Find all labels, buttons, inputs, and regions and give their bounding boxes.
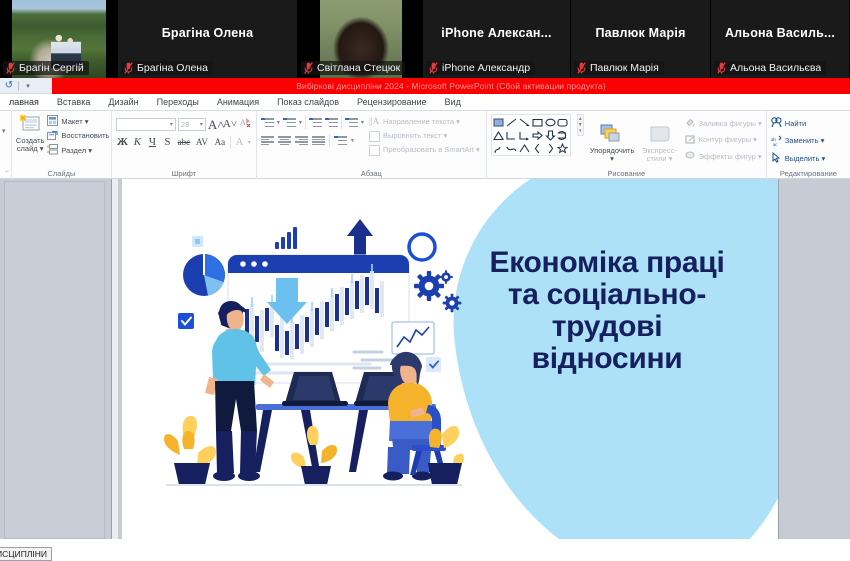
- participant-footer: Брагін Сергій: [3, 61, 89, 75]
- shape-effects-icon: [685, 150, 696, 163]
- line-shape-icon[interactable]: [506, 116, 518, 128]
- shadow-button[interactable]: S: [161, 137, 174, 148]
- convert-to-smartart-label: Преобразовать в SmartArt ▾: [383, 146, 480, 154]
- columns-icon[interactable]: [334, 135, 347, 146]
- smartart-icon: [369, 145, 380, 156]
- replace-icon: abac: [771, 135, 782, 148]
- numbered-list-icon[interactable]: [283, 117, 296, 128]
- right-brace-shape-icon[interactable]: [544, 142, 556, 154]
- decrease-font-size-button[interactable]: A˅: [223, 119, 236, 130]
- arc-shape-icon[interactable]: [518, 142, 530, 154]
- slide-thumbnail-list[interactable]: [4, 181, 105, 539]
- new-slide-button[interactable]: Создать слайд ▾: [16, 114, 45, 153]
- document-title: Вибіркові дисципліни 2024 - Microsoft Po…: [296, 81, 606, 91]
- star-shape-icon[interactable]: [557, 142, 569, 154]
- left-brace-shape-icon[interactable]: [531, 142, 543, 154]
- slides-small-buttons: Макет ▾ Восстановить Раздел ▾: [47, 114, 109, 157]
- participant-center-name: Павлюк Марія: [571, 26, 710, 40]
- shape-outline-icon: [685, 134, 696, 147]
- participant-footer: Павлюк Марія: [574, 61, 664, 75]
- ribbon-group-clipboard: ▾ ⌐: [0, 111, 12, 179]
- slide-title-line: трудові: [452, 311, 762, 343]
- line-spacing-dropdown-icon[interactable]: ▾: [361, 119, 364, 126]
- shape-format-buttons: Заливка фигуры ▾ Контур фигуры ▾ Эффекты…: [685, 114, 762, 163]
- reset-button[interactable]: Восстановить: [47, 130, 109, 143]
- align-left-icon[interactable]: [261, 135, 274, 146]
- qat-customize-button[interactable]: ▾: [22, 80, 34, 92]
- microphone-muted-icon: [6, 62, 15, 74]
- quick-styles-label: Экспресс-стили ▾: [640, 147, 678, 163]
- participant-center-name: iPhone Алексан...: [423, 26, 570, 40]
- reset-label: Восстановить: [61, 132, 109, 140]
- tab-view[interactable]: Вид: [436, 97, 470, 110]
- business-analytics-illustration: [164, 209, 464, 499]
- participant-footer: Альона Васильєва: [714, 61, 826, 75]
- curve-shape-icon[interactable]: [506, 142, 518, 154]
- font-size-input[interactable]: 28 ▾: [178, 118, 206, 131]
- slide-title-line: Економіка праці: [452, 247, 762, 279]
- justify-icon[interactable]: [312, 135, 325, 146]
- font-divider: [230, 136, 231, 149]
- microphone-muted-icon: [717, 62, 726, 74]
- participant-center-name: Альона Василь...: [711, 26, 849, 40]
- tab-review[interactable]: Рецензирование: [348, 97, 436, 110]
- ribbon-group-paragraph: ▾ ▾ ▾: [257, 111, 487, 179]
- ribbon-group-font: ▾ 28 ▾ A˄ A˅ A Ж К Ч S: [112, 111, 257, 179]
- font-family-input[interactable]: ▾: [116, 118, 176, 131]
- italic-button[interactable]: К: [131, 137, 144, 148]
- paragraph-text-buttons: ||A Направление текста ▾ Выровнять текст…: [369, 114, 480, 156]
- slide-title[interactable]: Економіка праці та соціально- трудові ві…: [452, 247, 762, 375]
- slide[interactable]: Економіка праці та соціально- трудові ві…: [122, 179, 778, 539]
- arrange-label: Упорядочить ▾: [590, 147, 635, 163]
- clipboard-dialog-launcher-icon[interactable]: ⌐: [5, 167, 9, 178]
- align-center-icon[interactable]: [278, 135, 291, 146]
- ribbon-group-title: Редактирование: [767, 168, 850, 179]
- oval-shape-icon[interactable]: [544, 116, 556, 128]
- ribbon-group-title: Шрифт: [112, 168, 256, 179]
- find-icon: [771, 117, 782, 130]
- shape-outline-button[interactable]: Контур фигуры ▾: [685, 134, 762, 147]
- find-label: Найти: [785, 120, 806, 128]
- underline-button[interactable]: Ч: [146, 137, 159, 148]
- slide-thumbnail-pane[interactable]: МЕТ ДИСЦИПЛІНИ: [0, 179, 112, 539]
- font-size-dropdown-icon[interactable]: ▾: [200, 121, 203, 128]
- ribbon-group-drawing: ▲ ▼ ▾ Упорядочить ▾: [487, 111, 767, 179]
- quick-access-toolbar: ↺ ▾: [0, 78, 52, 94]
- text-direction-button[interactable]: ||A Направление текста ▾: [369, 115, 480, 128]
- decrease-indent-icon[interactable]: [309, 117, 322, 128]
- align-text-icon: [369, 131, 380, 142]
- select-arrow-icon: [771, 152, 782, 165]
- bold-button[interactable]: Ж: [116, 137, 129, 148]
- paragraph-divider: [305, 116, 306, 129]
- qat-divider: [18, 81, 19, 91]
- quick-styles-icon: [648, 124, 672, 146]
- arrange-icon: [600, 124, 624, 146]
- layout-label: Макет ▾: [61, 118, 88, 126]
- font-size-value: 28: [181, 120, 189, 129]
- cut-off-tooltip: МЕТ ДИСЦИПЛІНИ: [0, 547, 52, 561]
- strikethrough-button[interactable]: abc: [176, 138, 192, 147]
- shapes-gallery-scrollbar[interactable]: ▲ ▼ ▾: [577, 114, 584, 136]
- svg-text:A: A: [240, 118, 246, 127]
- select-label: Выделить ▾: [785, 155, 825, 163]
- textbox-shape-icon[interactable]: [493, 116, 505, 128]
- shape-fill-icon: [685, 117, 696, 130]
- slide-title-line: та соціально-: [452, 279, 762, 311]
- ribbon-group-title: Абзац: [257, 168, 486, 179]
- shape-effects-label: Эффекты фигур ▾: [699, 153, 762, 161]
- layout-button[interactable]: Макет ▾: [47, 115, 109, 128]
- clear-formatting-icon[interactable]: A: [240, 115, 252, 133]
- microphone-muted-icon: [577, 62, 586, 74]
- paragraph-align-row: ▾: [261, 134, 364, 147]
- microphone-muted-icon: [124, 62, 133, 74]
- ribbon-group-editing: Найти abac Заменить ▾ Выделить ▾: [767, 111, 850, 179]
- participant-footer: iPhone Александр: [426, 61, 535, 75]
- select-button[interactable]: Выделить ▾: [771, 152, 825, 165]
- numbered-list-dropdown-icon[interactable]: ▾: [299, 119, 302, 126]
- participant-tile[interactable]: Брагін Сергій: [0, 0, 118, 78]
- convert-to-smartart-button[interactable]: Преобразовать в SmartArt ▾: [369, 145, 480, 156]
- svg-text:||A: ||A: [369, 116, 380, 126]
- bulleted-list-icon[interactable]: [261, 117, 274, 128]
- participant-center-name: Брагіна Олена: [118, 26, 297, 40]
- ribbon-group-title: Слайды: [12, 168, 111, 179]
- replace-label: Заменить ▾: [785, 137, 825, 145]
- font-color-button[interactable]: A: [233, 137, 246, 148]
- slide-canvas-area: Економіка праці та соціально- трудові ві…: [118, 179, 850, 539]
- font-color-dropdown-icon[interactable]: ▾: [248, 139, 251, 146]
- font-top-row: ▾ 28 ▾ A˄ A˅ A: [116, 115, 252, 133]
- elbow-connector-shape-icon[interactable]: [506, 129, 518, 141]
- down-arrow-shape-icon[interactable]: [544, 129, 556, 141]
- shapes-gallery[interactable]: [491, 114, 571, 156]
- shape-fill-button[interactable]: Заливка фигуры ▾: [685, 117, 762, 130]
- character-spacing-button[interactable]: AV: [194, 138, 210, 147]
- reset-icon: [47, 130, 58, 143]
- participant-tile[interactable]: Світлана Стецюк: [298, 0, 423, 78]
- tab-insert[interactable]: Вставка: [48, 97, 99, 110]
- editing-buttons: Найти abac Заменить ▾ Выделить ▾: [771, 114, 825, 165]
- columns-dropdown-icon[interactable]: ▾: [351, 137, 354, 144]
- shape-outline-label: Контур фигуры ▾: [699, 136, 757, 144]
- powerpoint-window: ↺ ▾ Вибіркові дисципліни 2024 - Microsof…: [0, 78, 850, 539]
- text-direction-icon: ||A: [369, 115, 380, 128]
- arrange-button[interactable]: Упорядочить ▾: [590, 114, 635, 163]
- quick-styles-button[interactable]: Экспресс-стили ▾: [640, 114, 678, 163]
- participant-name-label: Альона Васильєва: [730, 62, 821, 74]
- elbow-arrow-shape-icon[interactable]: [518, 129, 530, 141]
- section-label: Раздел ▾: [61, 147, 92, 155]
- tab-design[interactable]: Дизайн: [99, 97, 147, 110]
- window-titlebar: ↺ ▾ Вибіркові дисципліни 2024 - Microsof…: [0, 78, 850, 94]
- participant-name-label: Брагіна Олена: [137, 62, 208, 74]
- tab-transitions[interactable]: Переходы: [148, 97, 208, 110]
- shapes-more-icon[interactable]: ▾: [579, 128, 582, 134]
- line-spacing-icon[interactable]: [345, 117, 358, 128]
- align-text-label: Выровнять текст ▾: [383, 132, 447, 140]
- zoom-participant-strip: Брагін Сергій Брагіна Олена Брагіна Олен…: [0, 0, 850, 78]
- triangle-shape-icon[interactable]: [493, 129, 505, 141]
- microphone-muted-icon: [304, 62, 313, 74]
- layout-icon: [47, 115, 58, 128]
- text-direction-label: Направление текста ▾: [383, 118, 460, 126]
- rectangle-shape-icon[interactable]: [531, 116, 543, 128]
- new-slide-label: Создать слайд ▾: [16, 137, 45, 153]
- replace-button[interactable]: abac Заменить ▾: [771, 135, 825, 148]
- participant-footer: Світлана Стецюк: [301, 61, 405, 75]
- ribbon: ▾ ⌐: [0, 111, 850, 179]
- bulleted-list-dropdown-icon[interactable]: ▾: [277, 119, 280, 126]
- find-button[interactable]: Найти: [771, 117, 825, 130]
- ribbon-group-title: Рисование: [487, 168, 766, 179]
- ribbon-group-slides: Создать слайд ▾ Макет ▾ Восстановить: [12, 111, 112, 179]
- paragraph-list-row: ▾ ▾ ▾: [261, 116, 364, 129]
- line-arrow-shape-icon[interactable]: [518, 116, 530, 128]
- align-text-button[interactable]: Выровнять текст ▾: [369, 131, 480, 142]
- font-bottom-row: Ж К Ч S abc AV Aa A ▾: [116, 136, 251, 149]
- freeform-shape-icon[interactable]: [493, 142, 505, 154]
- slide-title-line: відносини: [452, 343, 762, 375]
- document-title-bar: Вибіркові дисципліни 2024 - Microsoft Po…: [52, 78, 850, 94]
- increase-indent-icon[interactable]: [325, 117, 338, 128]
- tab-home[interactable]: лавная: [0, 97, 48, 110]
- ribbon-tab-row: лавная Вставка Дизайн Переходы Анимация …: [0, 94, 850, 111]
- flowchart-shape-icon[interactable]: [557, 129, 569, 141]
- tab-animations[interactable]: Анимация: [208, 97, 268, 110]
- participant-name-label: Світлана Стецюк: [317, 62, 400, 74]
- microphone-muted-icon: [429, 62, 438, 74]
- shape-fill-label: Заливка фигуры ▾: [699, 120, 762, 128]
- increase-font-size-button[interactable]: A˄: [208, 118, 221, 131]
- section-button[interactable]: Раздел ▾: [47, 144, 109, 157]
- tab-slideshow[interactable]: Показ слайдов: [268, 97, 348, 110]
- ribbon-group-title: ⌐: [0, 168, 11, 179]
- align-right-icon[interactable]: [295, 135, 308, 146]
- paragraph-divider: [329, 134, 330, 147]
- clipboard-dropdown-arrow-icon[interactable]: ▾: [2, 127, 6, 135]
- undo-button[interactable]: ↺: [3, 80, 15, 92]
- participant-tile[interactable]: Павлюк Марія Павлюк Марія: [571, 0, 711, 78]
- svg-text:ac: ac: [773, 143, 778, 146]
- paragraph-divider: [341, 116, 342, 129]
- participant-name-label: Брагін Сергій: [19, 62, 84, 74]
- rounded-rectangle-shape-icon[interactable]: [557, 116, 569, 128]
- participant-tile[interactable]: iPhone Алексан... iPhone Александр: [423, 0, 571, 78]
- participant-footer: Брагіна Олена: [121, 61, 213, 75]
- editor-work-area: МЕТ ДИСЦИПЛІНИ: [0, 179, 850, 539]
- new-slide-icon: [19, 114, 41, 136]
- participant-name-label: Павлюк Марія: [590, 62, 659, 74]
- participant-tile[interactable]: Альона Василь... Альона Васильєва: [711, 0, 850, 78]
- shape-effects-button[interactable]: Эффекты фигур ▾: [685, 150, 762, 163]
- section-icon: [47, 144, 58, 157]
- font-family-dropdown-icon[interactable]: ▾: [170, 121, 173, 128]
- change-case-button[interactable]: Aa: [212, 138, 228, 147]
- right-arrow-shape-icon[interactable]: [531, 129, 543, 141]
- participant-name-label: iPhone Александр: [442, 62, 530, 74]
- participant-tile[interactable]: Брагіна Олена Брагіна Олена: [118, 0, 298, 78]
